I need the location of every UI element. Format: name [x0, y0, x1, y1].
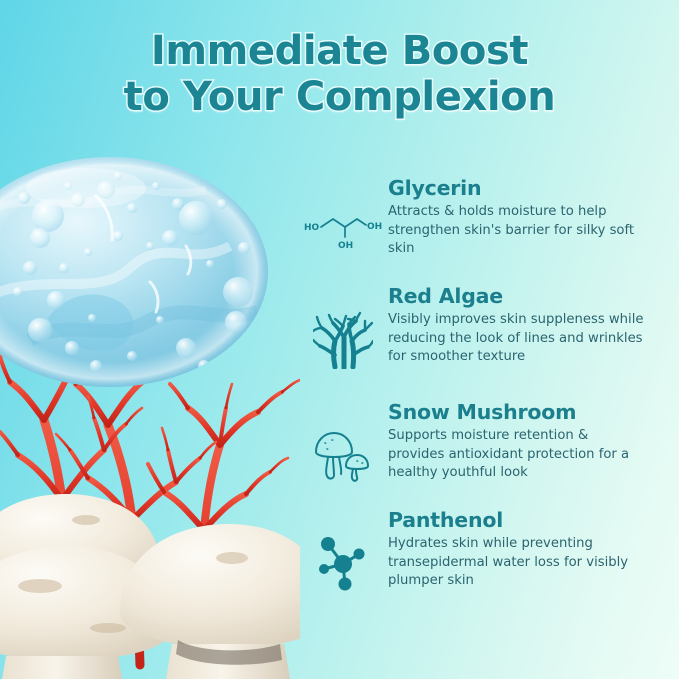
ingredient-text-panthenol: Panthenol Hydrates skin while preventing…: [388, 507, 676, 591]
gel-blob-photo: [0, 157, 268, 387]
mushroom-outline-icon: [304, 425, 382, 487]
coral-algae-icon: [304, 309, 382, 371]
ingredient-name: Panthenol: [388, 507, 676, 533]
ingredient-description: Hydrates skin while preventing transepid…: [388, 535, 648, 591]
ingredient-description: Attracts & holds moisture to help streng…: [388, 203, 648, 259]
ingredient-name: Snow Mushroom: [388, 399, 676, 425]
ingredient-text-snow-mushroom: Snow Mushroom Supports moisture retentio…: [388, 399, 676, 483]
ingredient-list: HO OH OH Glycerin Attracts & holds moist…: [304, 175, 676, 593]
ingredient-name: Red Algae: [388, 283, 676, 309]
title-line-2: to Your Complexion: [0, 74, 679, 120]
red-algae-photo: [0, 324, 300, 670]
ingredient-text-glycerin: Glycerin Attracts & holds moisture to he…: [388, 175, 676, 259]
ingredient-description: Supports moisture retention & provides a…: [388, 427, 648, 483]
ingredient-item-glycerin: HO OH OH Glycerin Attracts & holds moist…: [304, 175, 676, 261]
page-title: Immediate Boost to Your Complexion: [0, 28, 679, 120]
svg-text:OH: OH: [338, 241, 353, 251]
glycerin-molecule-icon: HO OH OH: [304, 201, 382, 263]
title-line-1: Immediate Boost: [0, 28, 679, 74]
ingredient-item-panthenol: Panthenol Hydrates skin while preventing…: [304, 507, 676, 593]
ingredient-description: Visibly improves skin suppleness while r…: [388, 311, 648, 367]
white-mushrooms-photo: [0, 494, 300, 679]
ingredient-item-red-algae: Red Algae Visibly improves skin supplene…: [304, 283, 676, 369]
ingredient-item-snow-mushroom: Snow Mushroom Supports moisture retentio…: [304, 399, 676, 485]
molecule-node-icon: [304, 533, 382, 595]
ingredient-name: Glycerin: [388, 175, 676, 201]
infographic-canvas: Immediate Boost to Your Complexion HO OH…: [0, 0, 679, 679]
svg-text:HO: HO: [304, 223, 320, 233]
ingredient-text-red-algae: Red Algae Visibly improves skin supplene…: [388, 283, 676, 367]
svg-text:OH: OH: [367, 222, 382, 232]
